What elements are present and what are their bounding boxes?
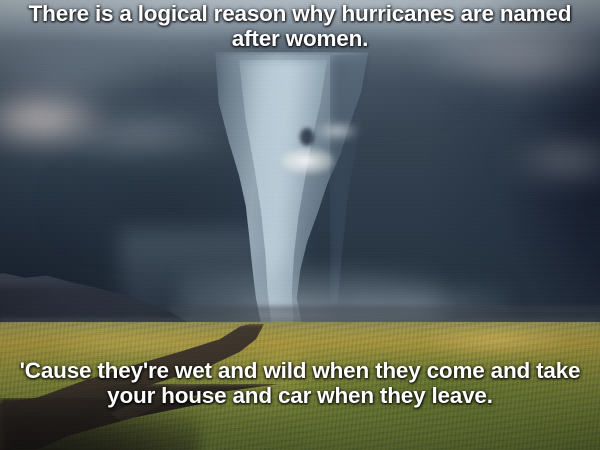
dirt-road-dark-shadow [0, 410, 200, 450]
tornado-funnel-highlight [282, 148, 334, 174]
tornado-funnel-dark-notch [300, 128, 314, 146]
tornado-funnel-group [0, 0, 600, 335]
tornado-funnel-highlight-upper [316, 122, 358, 140]
dirt-road-group [0, 324, 600, 450]
meme-image: There is a logical reason why hurricanes… [0, 0, 600, 450]
